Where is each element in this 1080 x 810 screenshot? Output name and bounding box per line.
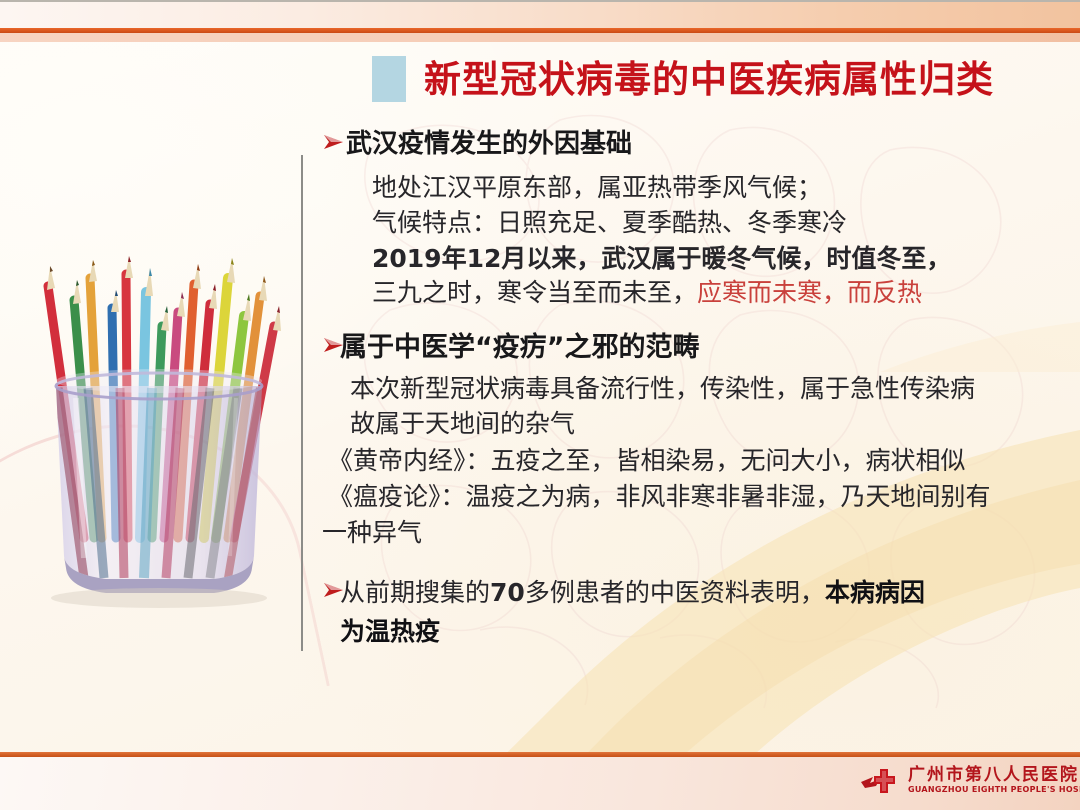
section-1-heading: 武汉疫情发生的外因基础 — [346, 128, 632, 161]
section-1-line-4-text: 三九之时，寒令当至而未至， — [372, 280, 697, 307]
slide-title-row: 新型冠状病毒的中医疾病属性归类 — [372, 56, 994, 102]
section-3-line-1: 从前期搜集的70多例患者的中医资料表明，本病病因 — [340, 576, 925, 611]
section-1-line-2: 气候特点：日照充足、夏季酷热、冬季寒冷 — [372, 207, 847, 241]
section-2-line-4: 《瘟疫论》：温疫之为病，非风非寒非暑非湿，乃天地间别有 — [328, 481, 991, 515]
vertical-divider — [301, 155, 303, 651]
section-3-line-2: 为温热疫 — [340, 615, 440, 650]
page-title: 新型冠状病毒的中医疾病属性归类 — [424, 61, 994, 98]
hospital-logo-text: 广州市第八人民医院 GUANGZHOU EIGHTH PEOPLE'S HOSP… — [908, 767, 1080, 794]
section-3-emphasis-2: 为温热疫 — [340, 617, 440, 646]
slide-canvas: 新型冠状病毒的中医疾病属性归类 — [0, 0, 1080, 810]
section-3-prefix: 从前期搜集的 — [340, 580, 490, 607]
arrow-bullet-icon-1 — [322, 132, 346, 157]
section-2-heading: 属于中医学“疫疠”之邪的范畴 — [340, 331, 700, 365]
section-1-line-3: 2019年12月以来，武汉属于暖冬气候，时值冬至， — [372, 242, 951, 277]
section-2-line-3: 《黄帝内经》：五疫之至，皆相染易，无问大小，病状相似 — [328, 445, 966, 479]
hospital-name-en: GUANGZHOU EIGHTH PEOPLE'S HOSPITAL — [908, 786, 1080, 794]
section-2-line-5: 一种异气 — [322, 517, 422, 551]
section-1-line-3-text: 2019年12月以来，武汉属于暖冬气候，时值冬至， — [372, 244, 951, 273]
section-3-middle: 多例患者的中医资料表明， — [525, 580, 825, 607]
title-marker-square — [372, 56, 406, 102]
hospital-cross-icon — [860, 766, 900, 796]
hospital-logo: 广州市第八人民医院 GUANGZHOU EIGHTH PEOPLE'S HOSP… — [860, 766, 1080, 796]
section-1-line-1: 地处江汉平原东部，属亚热带季风气候； — [372, 172, 822, 206]
hospital-name-cn: 广州市第八人民医院 — [908, 767, 1080, 785]
top-banner-band — [0, 0, 1080, 30]
section-2-line-1: 本次新型冠状病毒具备流行性，传染性，属于急性传染病 — [350, 373, 975, 407]
section-2-line-2: 故属于天地间的杂气 — [350, 408, 575, 442]
section-3-emphasis-1: 本病病因 — [825, 578, 925, 607]
section-3-case-count: 70 — [490, 578, 525, 607]
top-banner-underband — [0, 33, 1080, 42]
section-1-highlight: 应寒而未寒，而反热 — [697, 280, 922, 307]
colored-pencils-image — [28, 238, 290, 610]
section-1-line-4: 三九之时，寒令当至而未至，应寒而未寒，而反热 — [372, 277, 922, 311]
